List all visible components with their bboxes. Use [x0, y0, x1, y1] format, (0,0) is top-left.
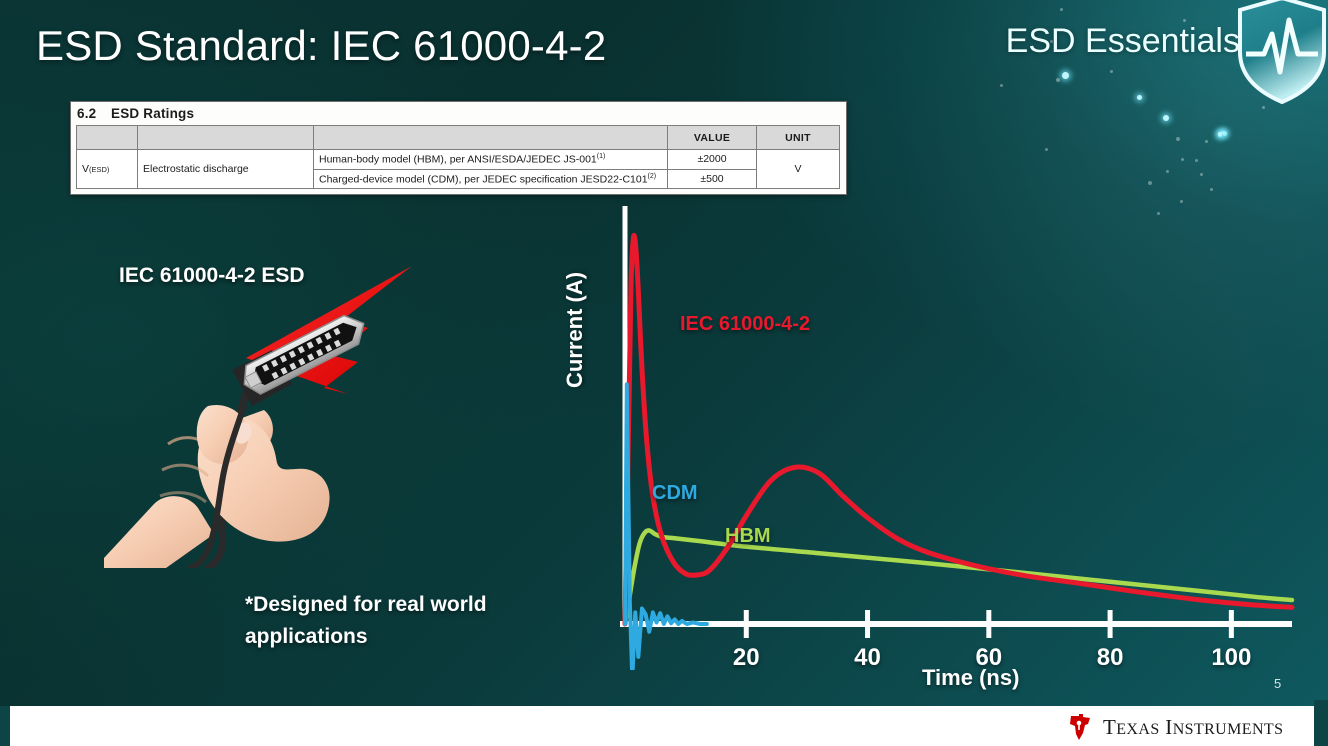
illustration-caption: *Designed for real world applications [245, 589, 545, 652]
ti-word2-rest: NSTRUMENTS [1173, 721, 1284, 738]
ti-word2-cap: I [1165, 715, 1172, 739]
slide-canvas: ESD Standard: IEC 61000-4-2 ESD Essentia… [0, 0, 1328, 746]
chart-x-tick-label: 60 [975, 644, 1002, 672]
esd-ratings-table-card: 6.2ESD Ratings VALUE UNIT V(ESD) Electro… [70, 101, 847, 195]
sparkle-dot [1000, 84, 1003, 87]
sparkle-dot [1110, 70, 1113, 73]
shield-pulse-icon [1234, 0, 1328, 106]
footnote-marker: (1) [597, 153, 606, 160]
chart-x-tick-label: 20 [733, 644, 760, 672]
sparkle-dot [1262, 106, 1265, 109]
sparkle-dot [1218, 132, 1222, 136]
sparkle-dot [1218, 133, 1222, 137]
sparkle-dot [1137, 95, 1142, 100]
chart-x-tick-label: 80 [1097, 644, 1124, 672]
chart-series-cdm [625, 384, 707, 670]
sparkle-dot [1205, 140, 1208, 143]
cell-description-hbm: Human-body model (HBM), per ANSI/ESDA/JE… [314, 150, 668, 170]
symbol-subscript: (ESD) [89, 165, 109, 174]
ti-texas-icon [1066, 713, 1094, 741]
caption-line-1: *Designed for real world [245, 589, 545, 621]
table-section-heading: 6.2ESD Ratings [71, 102, 846, 125]
table-header-row: VALUE UNIT [77, 126, 840, 150]
chart-x-tick-label: 40 [854, 644, 881, 672]
chart-x-tick-label: 100 [1211, 644, 1251, 672]
sparkle-dot [1200, 173, 1203, 176]
chart-annotation-cdm: CDM [652, 482, 698, 505]
sparkle-dot [1181, 158, 1184, 161]
sparkle-dot [1163, 115, 1169, 121]
header-blank-description [314, 126, 668, 150]
cell-unit: V [757, 150, 840, 189]
caption-line-2: applications [245, 621, 545, 653]
cell-symbol: V(ESD) [77, 150, 138, 189]
cell-parameter: Electrostatic discharge [138, 150, 314, 189]
sparkle-dot [1210, 188, 1213, 191]
table-row: V(ESD) Electrostatic discharge Human-bod… [77, 150, 840, 170]
texas-instruments-logo: TEXAS INSTRUMENTS [1066, 712, 1283, 742]
cell-value-hbm: ±2000 [668, 150, 757, 170]
footnote-marker: (2) [648, 173, 657, 180]
table-section-number: 6.2 [77, 106, 111, 121]
header-unit: UNIT [757, 126, 840, 150]
description-text: Charged-device model (CDM), per JEDEC sp… [319, 173, 648, 185]
esd-ratings-table: VALUE UNIT V(ESD) Electrostatic discharg… [76, 125, 840, 189]
ti-word1-rest: EXAS [1116, 721, 1159, 738]
esd-discharge-illustration [96, 258, 426, 568]
sparkle-dot [1166, 170, 1169, 173]
esd-waveform-chart: Current (A) Time (ns) 20406080100 IEC 61… [570, 200, 1310, 690]
header-blank-symbol [77, 126, 138, 150]
sparkle-dot [1062, 72, 1069, 79]
sparkle-dot [1056, 78, 1060, 82]
ti-wordmark: TEXAS INSTRUMENTS [1103, 715, 1283, 740]
sparkle-dot [1221, 131, 1224, 134]
cell-description-cdm: Charged-device model (CDM), per JEDEC sp… [314, 169, 668, 189]
sparkle-dot [1176, 137, 1180, 141]
sparkle-dot [1045, 148, 1048, 151]
chart-plot-area [570, 200, 1310, 670]
slide-number: 5 [1274, 676, 1281, 691]
hand-holding-cable-icon [104, 405, 330, 568]
sparkle-dot [1195, 159, 1198, 162]
sparkle-dot [1222, 131, 1227, 136]
sparkle-dot [1222, 132, 1225, 135]
table-section-title: ESD Ratings [111, 106, 194, 121]
ti-word1-cap: T [1103, 715, 1116, 739]
footer-edge-left [0, 706, 10, 746]
header-blank-parameter [138, 126, 314, 150]
sparkle-dot [1148, 181, 1152, 185]
header-value: VALUE [668, 126, 757, 150]
footer-edge-right [1314, 700, 1328, 746]
brand-label: ESD Essentials [1006, 22, 1240, 61]
chart-annotation-hbm: HBM [725, 525, 771, 548]
page-title: ESD Standard: IEC 61000-4-2 [36, 22, 606, 70]
symbol-letter: V [82, 163, 89, 175]
cell-value-cdm: ±500 [668, 169, 757, 189]
sparkle-dot [1060, 8, 1063, 11]
chart-annotation-iec: IEC 61000-4-2 [680, 313, 810, 336]
description-text: Human-body model (HBM), per ANSI/ESDA/JE… [319, 154, 597, 166]
